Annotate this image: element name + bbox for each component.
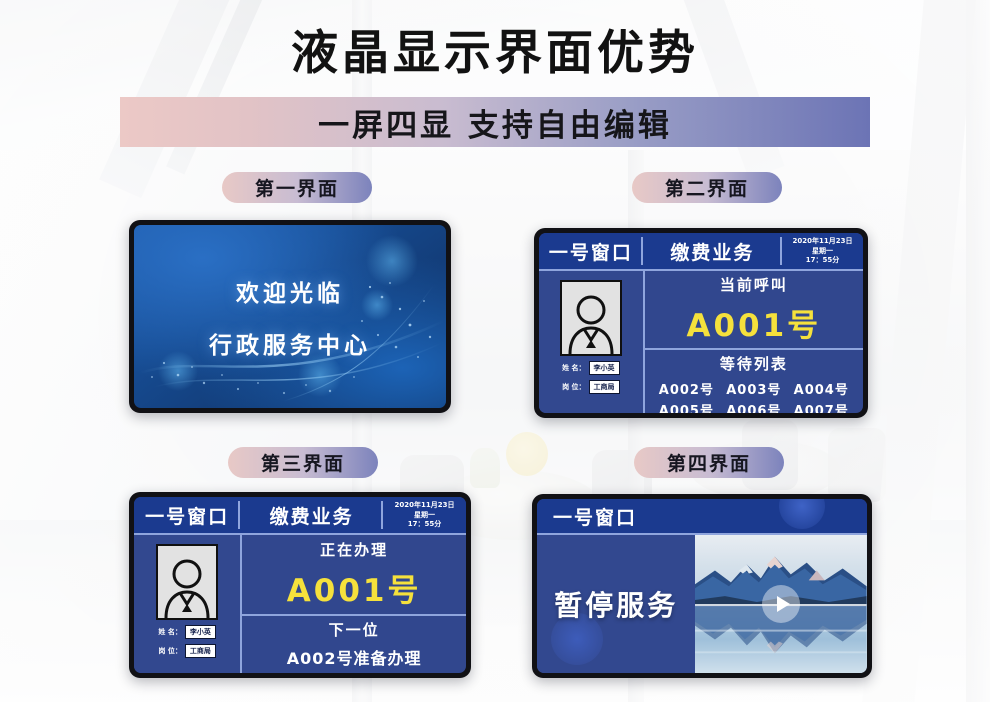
paused-body-4: 暂停服务: [537, 535, 867, 673]
next-number: A002号准备办理: [287, 645, 422, 669]
waiting-item: A007号: [790, 400, 853, 413]
section-label-4: 第四界面: [634, 447, 784, 478]
screen-3-display: 一号窗口 缴费业务 2020年11月23日 星期一 17：55分: [134, 497, 466, 673]
welcome-screen: 欢迎光临 行政服务中心: [134, 225, 446, 408]
weekday-text: 星期一: [414, 511, 435, 520]
staff-name-value: 李小英: [589, 361, 620, 375]
window-name-2: 一号窗口: [539, 233, 643, 269]
waiting-item: A003号: [722, 379, 785, 398]
staff-post-label: 岗 位：: [562, 382, 585, 392]
business-name-3: 缴费业务: [240, 497, 383, 533]
queue-body-3: 姓 名： 李小英 岗 位： 工商局 正在办理 A001号 下一位: [134, 535, 466, 673]
waiting-list-grid: A002号 A003号 A004号 A005号 A006号 A007号: [649, 379, 859, 413]
queue-header-3: 一号窗口 缴费业务 2020年11月23日 星期一 17：55分: [134, 497, 466, 535]
waiting-list-section: 等待列表 A002号 A003号 A004号 A005号 A006号 A007号: [645, 350, 863, 413]
waiting-list-label: 等待列表: [720, 353, 788, 374]
welcome-text-block: 欢迎光临 行政服务中心: [134, 225, 446, 408]
screen-4-display: 一号窗口 暂停服务: [537, 499, 867, 673]
serving-number: A001号: [287, 565, 422, 610]
staff-post-row: 岗 位： 工商局: [562, 380, 619, 394]
staff-post-value: 工商局: [185, 644, 216, 658]
business-name-text: 缴费业务: [270, 502, 354, 529]
waiting-item: A005号: [655, 400, 718, 413]
time-text: 17：55分: [806, 256, 839, 265]
section-label-3: 第三界面: [228, 447, 378, 478]
queue-header-2: 一号窗口 缴费业务 2020年11月23日 星期一 17：55分: [539, 233, 863, 271]
weekday-text: 星期一: [812, 247, 833, 256]
welcome-line-1: 欢迎光临: [236, 274, 344, 308]
screen-1-display: 欢迎光临 行政服务中心: [134, 225, 446, 408]
window-name-text: 一号窗口: [549, 238, 633, 265]
page-title: 液晶显示界面优势: [0, 14, 990, 83]
queue-info-2: 当前呼叫 A001号 等待列表 A002号 A003号 A004号 A005号 …: [645, 271, 863, 413]
window-name-text: 一号窗口: [553, 503, 637, 530]
datetime-block-2: 2020年11月23日 星期一 17：55分: [782, 233, 863, 269]
staff-post-label: 岗 位：: [158, 646, 181, 656]
monitor-screen-1: 欢迎光临 行政服务中心: [129, 220, 451, 413]
date-text: 2020年11月23日: [793, 237, 853, 246]
window-name-3: 一号窗口: [134, 497, 240, 533]
serving-label: 正在办理: [320, 539, 388, 560]
business-name-text: 缴费业务: [670, 238, 754, 265]
serving-section: 正在办理 A001号: [242, 535, 466, 616]
monitor-screen-2: 一号窗口 缴费业务 2020年11月23日 星期一 17：55分: [534, 228, 868, 418]
staff-post-row: 岗 位： 工商局: [158, 644, 215, 658]
subtitle-band: 一屏四显 支持自由编辑: [120, 97, 870, 147]
queue-board-3: 一号窗口 缴费业务 2020年11月23日 星期一 17：55分: [134, 497, 466, 673]
next-label: 下一位: [329, 619, 380, 640]
staff-name-label: 姓 名：: [158, 627, 181, 637]
datetime-block-3: 2020年11月23日 星期一 17：55分: [383, 497, 466, 533]
current-call-label: 当前呼叫: [720, 274, 788, 295]
status-text: 暂停服务: [554, 584, 678, 624]
person-icon: [562, 282, 620, 354]
staff-name-label: 姓 名：: [562, 363, 585, 373]
time-text: 17：55分: [408, 520, 441, 529]
monitor-screen-4: 一号窗口 暂停服务: [532, 494, 872, 678]
queue-board-2: 一号窗口 缴费业务 2020年11月23日 星期一 17：55分: [539, 233, 863, 413]
section-label-2: 第二界面: [632, 172, 782, 203]
staff-name-row: 姓 名： 李小英: [562, 361, 619, 375]
queue-body-2: 姓 名： 李小英 岗 位： 工商局 当前呼叫 A001号 等待列表: [539, 271, 863, 413]
waiting-item: A004号: [790, 379, 853, 398]
queue-info-3: 正在办理 A001号 下一位 A002号准备办理: [242, 535, 466, 673]
waiting-item: A006号: [722, 400, 785, 413]
person-icon: [158, 546, 216, 618]
queue-header-4: 一号窗口: [537, 499, 867, 535]
staff-name-value: 李小英: [185, 625, 216, 639]
business-name-2: 缴费业务: [643, 233, 782, 269]
subtitle-text: 一屏四显 支持自由编辑: [318, 100, 672, 145]
status-panel-4: 暂停服务: [537, 535, 695, 673]
waiting-item: A002号: [655, 379, 718, 398]
welcome-line-2: 行政服务中心: [209, 326, 371, 360]
staff-avatar: [156, 544, 218, 620]
staff-post-value: 工商局: [589, 380, 620, 394]
current-call-number: A001号: [686, 300, 821, 345]
video-panel[interactable]: [695, 535, 867, 673]
current-call-section: 当前呼叫 A001号: [645, 271, 863, 350]
date-text: 2020年11月23日: [395, 501, 455, 510]
paused-board-4: 一号窗口 暂停服务: [537, 499, 867, 673]
monitor-screen-3: 一号窗口 缴费业务 2020年11月23日 星期一 17：55分: [129, 492, 471, 678]
staff-avatar: [560, 280, 622, 356]
staff-panel-2: 姓 名： 李小英 岗 位： 工商局: [539, 271, 645, 413]
next-section: 下一位 A002号准备办理: [242, 616, 466, 674]
staff-name-row: 姓 名： 李小英: [158, 625, 215, 639]
header-glow: [779, 499, 825, 529]
staff-panel-3: 姓 名： 李小英 岗 位： 工商局: [134, 535, 242, 673]
screen-2-display: 一号窗口 缴费业务 2020年11月23日 星期一 17：55分: [539, 233, 863, 413]
window-name-text: 一号窗口: [145, 502, 229, 529]
section-label-1: 第一界面: [222, 172, 372, 203]
play-icon[interactable]: [762, 585, 800, 623]
play-triangle: [777, 596, 790, 612]
